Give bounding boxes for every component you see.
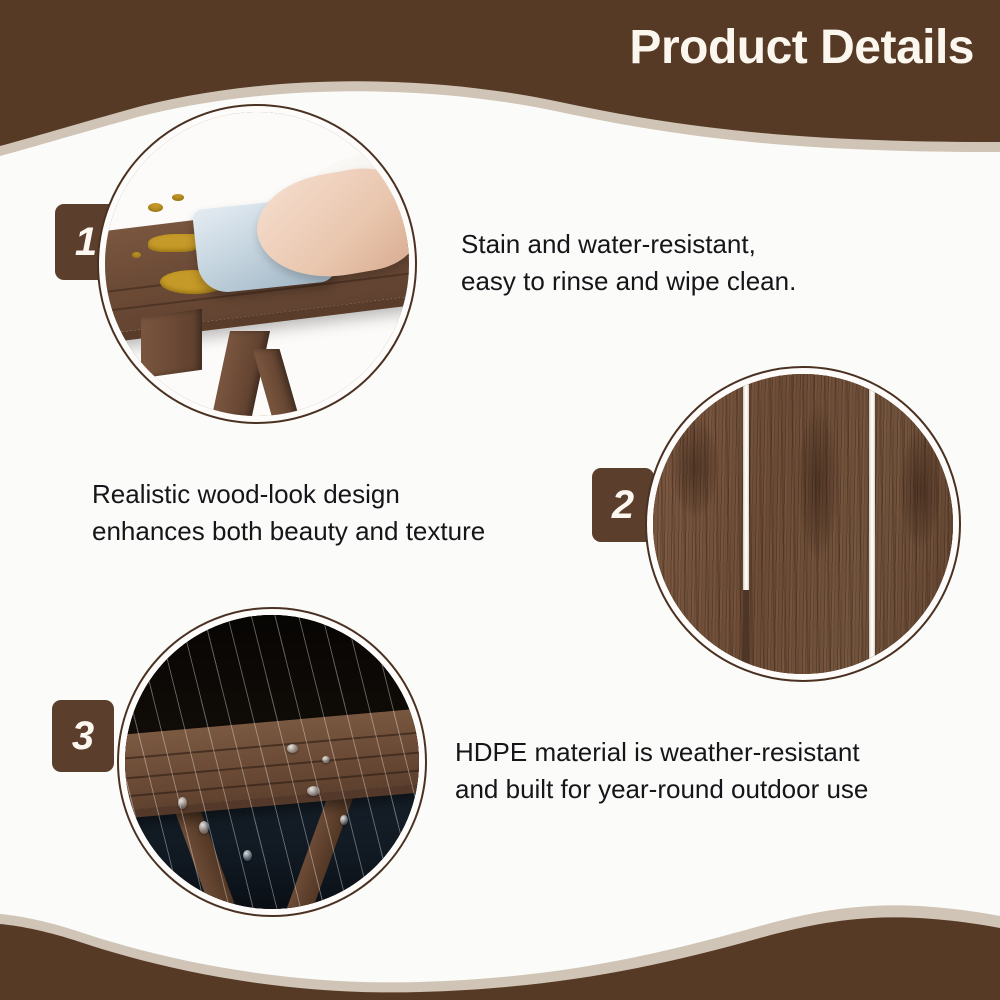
wood-knot-a [671, 416, 719, 518]
scene-wood-grain [653, 374, 953, 674]
plank-gap-right [869, 374, 875, 674]
water-droplet-7 [340, 815, 348, 825]
feature-photo-2 [653, 374, 953, 674]
table-leg-right [253, 349, 301, 416]
plank-gap-left-shadow [743, 590, 749, 674]
feature-image-circle-2 [645, 366, 961, 682]
feature-number-badge-3: 3 [52, 700, 114, 772]
feature-caption-3: HDPE material is weather-resistant and b… [455, 734, 955, 808]
feature-caption-1: Stain and water-resistant, easy to rinse… [461, 226, 931, 300]
infographic-canvas: Product Details 1 2 3 [0, 0, 1000, 1000]
feature-photo-1 [105, 112, 409, 416]
oil-droplet-a [148, 203, 163, 212]
feature-photo-3 [125, 615, 419, 909]
water-droplet-6 [243, 850, 252, 861]
bottom-wave-brown [0, 917, 1000, 1000]
water-droplet-5 [199, 821, 209, 834]
feature-image-circle-1 [97, 104, 417, 424]
page-title: Product Details [629, 20, 974, 75]
feature-image-circle-3 [117, 607, 427, 917]
wood-knot-b [797, 404, 839, 560]
rain-streaks [125, 615, 419, 909]
water-droplet-3 [307, 786, 320, 796]
scene-rain-on-table [125, 615, 419, 909]
oil-droplet-b [172, 194, 184, 201]
bottom-wave-accent [0, 905, 1000, 1000]
wood-knot-c [899, 428, 941, 548]
table-apron [141, 308, 202, 377]
feature-caption-2: Realistic wood-look design enhances both… [92, 476, 592, 550]
scene-table-wipe [105, 112, 409, 416]
